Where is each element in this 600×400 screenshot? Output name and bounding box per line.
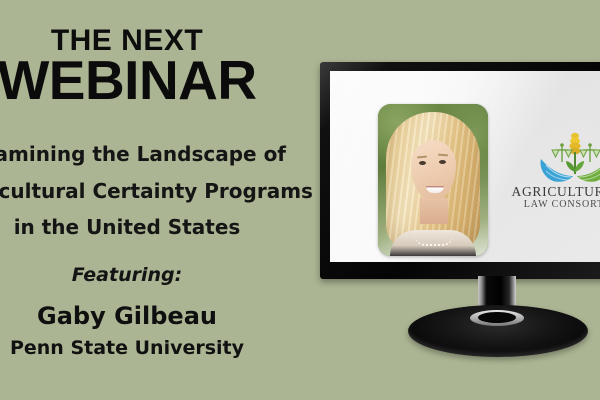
logo-text-line-1: AGRICULTURAL & bbox=[511, 184, 600, 199]
portrait-eye-left bbox=[419, 161, 426, 165]
logo-text-line-2: LAW CONSORTIUM bbox=[511, 199, 600, 211]
portrait-eye-right bbox=[439, 160, 446, 164]
subtitle-line-1: Examining the Landscape of bbox=[0, 136, 302, 173]
consortium-logo-mark-icon bbox=[533, 132, 600, 184]
portrait-necklace bbox=[414, 234, 454, 246]
subtitle-line-2: Agricultural Certainty Programs bbox=[0, 173, 302, 210]
computer-monitor: AGRICULTURAL & LAW CONSORTIUM bbox=[320, 62, 600, 279]
monitor-stand-collar-inner bbox=[478, 312, 516, 323]
speaker-name: Gaby Gilbeau bbox=[0, 302, 302, 330]
consortium-logo-wordmark: AGRICULTURAL & LAW CONSORTIUM bbox=[511, 184, 600, 211]
speaker-organization: Penn State University bbox=[0, 337, 302, 359]
speaker-portrait-photo bbox=[378, 104, 488, 256]
monitor-screen: AGRICULTURAL & LAW CONSORTIUM bbox=[330, 71, 600, 262]
agricultural-law-consortium-logo: AGRICULTURAL & LAW CONSORTIUM bbox=[511, 132, 600, 217]
subtitle-line-3: in the United States bbox=[0, 209, 302, 246]
text-column: THE NEXT WEBINAR Examining the Landscape… bbox=[0, 0, 320, 400]
subtitle-block: Examining the Landscape of Agricultural … bbox=[0, 136, 302, 246]
webinar-promo-slide: THE NEXT WEBINAR Examining the Landscape… bbox=[0, 0, 600, 400]
headline-webinar: WEBINAR bbox=[0, 51, 302, 110]
featuring-label: Featuring: bbox=[0, 264, 302, 286]
portrait-neck bbox=[420, 198, 448, 224]
